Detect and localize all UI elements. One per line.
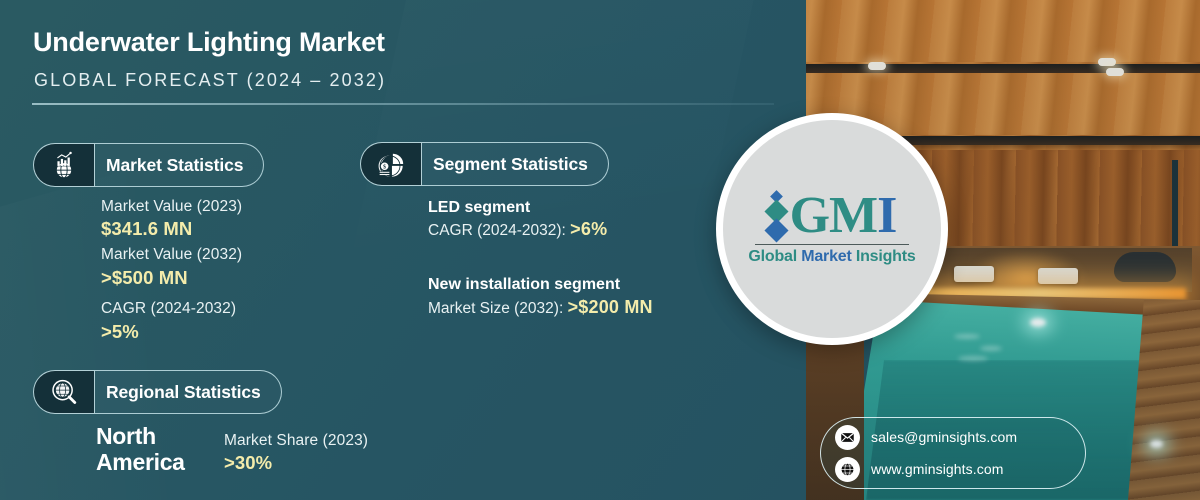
ceiling-slab-top bbox=[806, 0, 1200, 62]
contact-email-text: sales@gminsights.com bbox=[871, 429, 1017, 445]
ceiling-lamp-2 bbox=[1098, 58, 1116, 66]
contact-box: sales@gminsights.com www.gminsights.com bbox=[820, 417, 1086, 489]
region-share-label: Market Share (2023) bbox=[224, 430, 368, 451]
gmi-logo-mark: GMI bbox=[768, 192, 897, 240]
logo-tagline-insights: Insights bbox=[856, 248, 916, 265]
lounger-1 bbox=[954, 266, 994, 282]
globe-icon bbox=[835, 457, 860, 482]
pie-chart-money-icon: $ bbox=[360, 142, 422, 186]
segment-block-new-installation: New installation segment Market Size (20… bbox=[428, 274, 653, 317]
header-divider bbox=[32, 103, 774, 105]
globe-bar-chart-icon bbox=[33, 143, 95, 187]
logo-divider bbox=[755, 244, 909, 246]
logo-letter-g: G bbox=[790, 187, 829, 244]
market-cagr-value: >5% bbox=[101, 320, 242, 345]
region-name: North America bbox=[96, 424, 216, 476]
new-installation-label: Market Size (2032): bbox=[428, 300, 568, 317]
water-ripple-3 bbox=[958, 356, 988, 361]
new-installation-row: Market Size (2032): >$200 MN bbox=[428, 297, 653, 318]
logo-letter-i: I bbox=[877, 187, 896, 244]
water-ripple-2 bbox=[980, 346, 1002, 351]
segment-statistics-label: Segment Statistics bbox=[433, 154, 588, 175]
logo-tagline-market: Market bbox=[801, 248, 856, 265]
market-value-2023-label: Market Value (2023) bbox=[101, 196, 242, 217]
svg-text:$: $ bbox=[383, 163, 386, 170]
logo-letter-m: M bbox=[829, 187, 877, 244]
envelope-icon bbox=[835, 425, 860, 450]
contact-website-row[interactable]: www.gminsights.com bbox=[835, 457, 1085, 482]
logo-diamond-group bbox=[768, 192, 785, 239]
regional-statistics-values: North America Market Share (2023) >30% bbox=[96, 424, 368, 476]
contact-email-row[interactable]: sales@gminsights.com bbox=[835, 425, 1085, 450]
logo-diamond-blue bbox=[764, 219, 788, 243]
market-value-2032-label: Market Value (2032) bbox=[101, 244, 242, 265]
gmi-logo: GMI Global Market Insights bbox=[716, 113, 948, 345]
ceiling-beam-1 bbox=[806, 64, 1200, 73]
region-share-value: >30% bbox=[224, 451, 368, 476]
water-ripple-1 bbox=[954, 334, 980, 339]
market-statistics-values: Market Value (2023) $341.6 MN Market Val… bbox=[101, 196, 242, 346]
infographic-canvas: Underwater Lighting Market GLOBAL FORECA… bbox=[0, 0, 1200, 500]
page-title: Underwater Lighting Market bbox=[33, 27, 385, 58]
segment-statistics-values: LED segment CAGR (2024-2032): >6% New in… bbox=[428, 197, 653, 318]
ceiling-lamp-3 bbox=[1106, 68, 1124, 76]
market-cagr-label: CAGR (2024-2032) bbox=[101, 298, 242, 319]
led-cagr-value: >6% bbox=[570, 219, 607, 239]
led-segment-heading: LED segment bbox=[428, 197, 653, 219]
underwater-light-2 bbox=[1150, 440, 1163, 448]
led-cagr-label: CAGR (2024-2032): bbox=[428, 222, 570, 239]
contact-website-text: www.gminsights.com bbox=[871, 461, 1004, 477]
page-subtitle: GLOBAL FORECAST (2024 – 2032) bbox=[34, 70, 386, 91]
underwater-light-1 bbox=[1030, 318, 1046, 327]
regional-statistics-label: Regional Statistics bbox=[106, 382, 261, 403]
bathtub bbox=[1114, 252, 1176, 282]
logo-tagline: Global Market Insights bbox=[748, 248, 915, 266]
left-content-panel: Underwater Lighting Market GLOBAL FORECA… bbox=[0, 0, 806, 500]
region-share-block: Market Share (2023) >30% bbox=[224, 424, 368, 476]
new-installation-heading: New installation segment bbox=[428, 274, 653, 296]
logo-letters: GMI bbox=[790, 192, 897, 240]
segment-block-led: LED segment CAGR (2024-2032): >6% bbox=[428, 197, 653, 240]
market-statistics-label: Market Statistics bbox=[106, 155, 243, 176]
market-value-2032-value: >$500 MN bbox=[101, 266, 242, 291]
new-installation-value: >$200 MN bbox=[568, 297, 653, 317]
logo-tagline-global: Global bbox=[748, 248, 801, 265]
ceiling-lamp-1 bbox=[868, 62, 886, 70]
lounger-2 bbox=[1038, 268, 1078, 284]
market-value-2023-value: $341.6 MN bbox=[101, 217, 242, 242]
led-segment-row: CAGR (2024-2032): >6% bbox=[428, 219, 653, 240]
globe-magnifier-icon bbox=[33, 370, 95, 414]
